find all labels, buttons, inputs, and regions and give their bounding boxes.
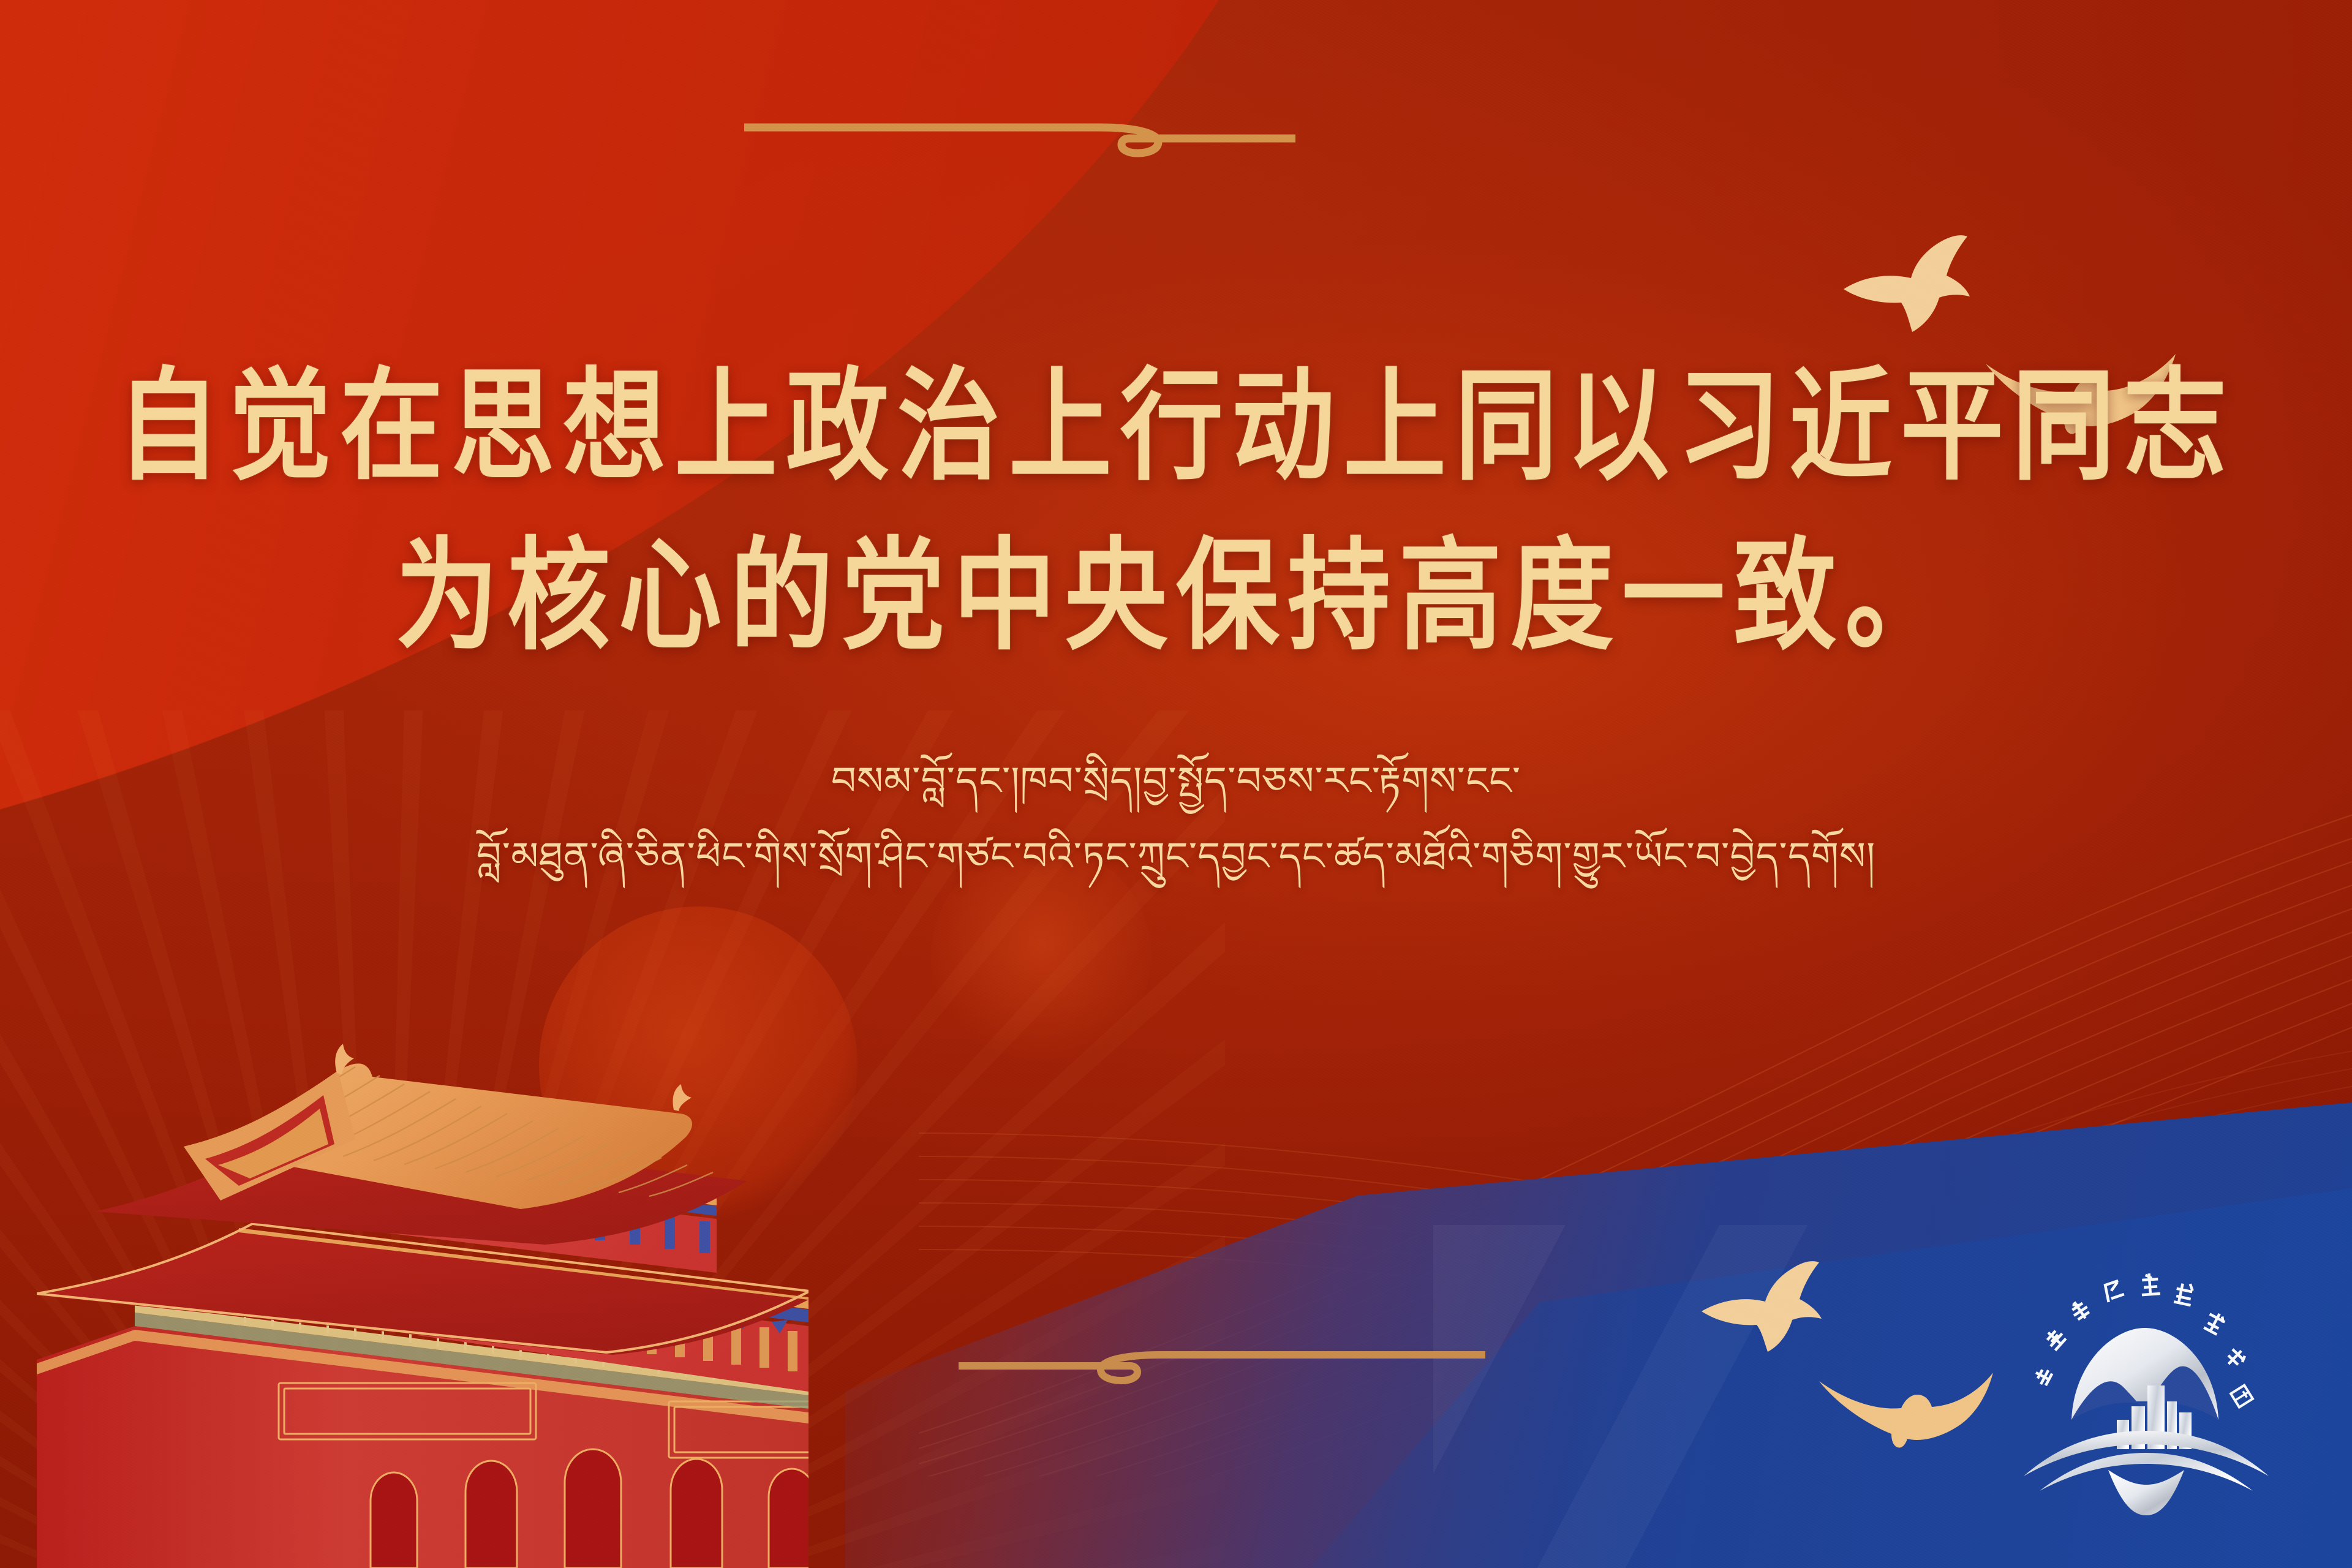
subheadline-tibetan: བསམ་བློ་དང་།ཁབ་སྲིད།བྱ་སྤྱོད་བཅས་རང་རྟོག… bbox=[0, 744, 2352, 895]
auspicious-cloud-icon-bottom bbox=[959, 1335, 1485, 1403]
auspicious-cloud-icon-top bbox=[744, 104, 1295, 178]
headline-line-1: 自觉在思想上政治上行动上同以习近平同志 bbox=[0, 343, 2352, 513]
tibet-construction-group-logo bbox=[2015, 1256, 2272, 1519]
tiananmen-gate-illustration bbox=[37, 1017, 809, 1568]
subheadline-line-1: བསམ་བློ་དང་།ཁབ་སྲིད།བྱ་སྤྱོད་བཅས་རང་རྟོག… bbox=[0, 744, 2352, 820]
peace-dove-icon bbox=[1831, 233, 2021, 355]
peace-dove-icon bbox=[1691, 1259, 1868, 1375]
headline-chinese: 自觉在思想上政治上行动上同以习近平同志 为核心的党中央保持高度一致。 bbox=[0, 343, 2352, 683]
headline-line-2: 为核心的党中央保持高度一致。 bbox=[0, 513, 2352, 684]
peace-dove-icon bbox=[1813, 1363, 1997, 1449]
poster-canvas: 自觉在思想上政治上行动上同以习近平同志 为核心的党中央保持高度一致。 བསམ་བ… bbox=[0, 0, 2352, 1568]
subheadline-line-2: བློ་མཐུན་ཞི་ཅིན་ཕིང་གིས་སྲོག་ཤིང་གཙང་བའི… bbox=[0, 820, 2352, 895]
